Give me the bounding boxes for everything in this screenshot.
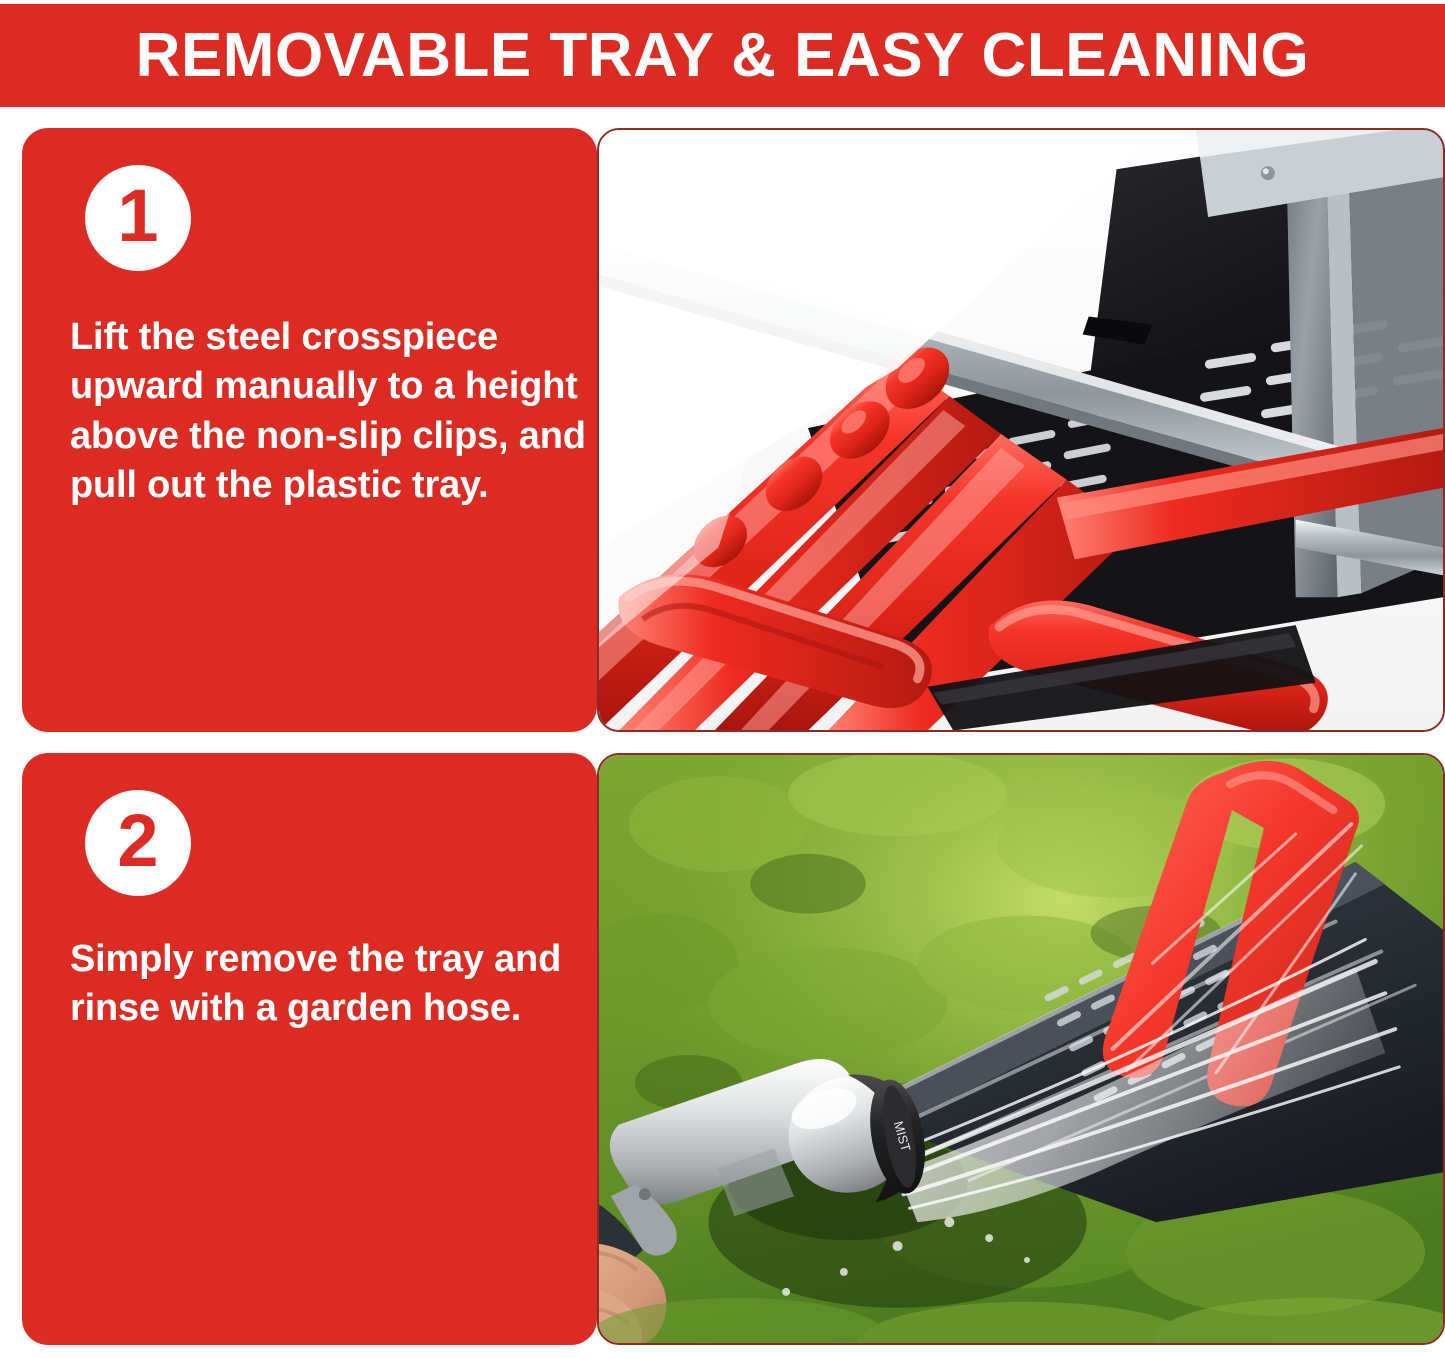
step-photo-2: MIST	[597, 753, 1445, 1345]
step-photo-1	[597, 128, 1445, 732]
step-row-1: 1 Lift the steel crosspiece upward manua…	[0, 128, 1445, 732]
step-description-2: Simply remove the tray and rinse with a …	[70, 935, 587, 1034]
hose-rinse-illustration: MIST	[599, 755, 1443, 1343]
step-card-2: 2 Simply remove the tray and rinse with …	[22, 753, 597, 1345]
tray-removal-illustration	[599, 130, 1443, 730]
step-number-1: 1	[117, 179, 158, 253]
step-number-badge-1: 1	[85, 165, 191, 271]
page-title: REMOVABLE TRAY & EASY CLEANING	[136, 25, 1310, 87]
step-row-2: 2 Simply remove the tray and rinse with …	[0, 753, 1445, 1345]
step-card-1: 1 Lift the steel crosspiece upward manua…	[22, 128, 597, 732]
step-number-badge-2: 2	[85, 790, 191, 896]
step-number-2: 2	[117, 804, 158, 878]
header-banner: REMOVABLE TRAY & EASY CLEANING	[0, 4, 1445, 107]
step-description-1: Lift the steel crosspiece upward manuall…	[70, 313, 587, 511]
